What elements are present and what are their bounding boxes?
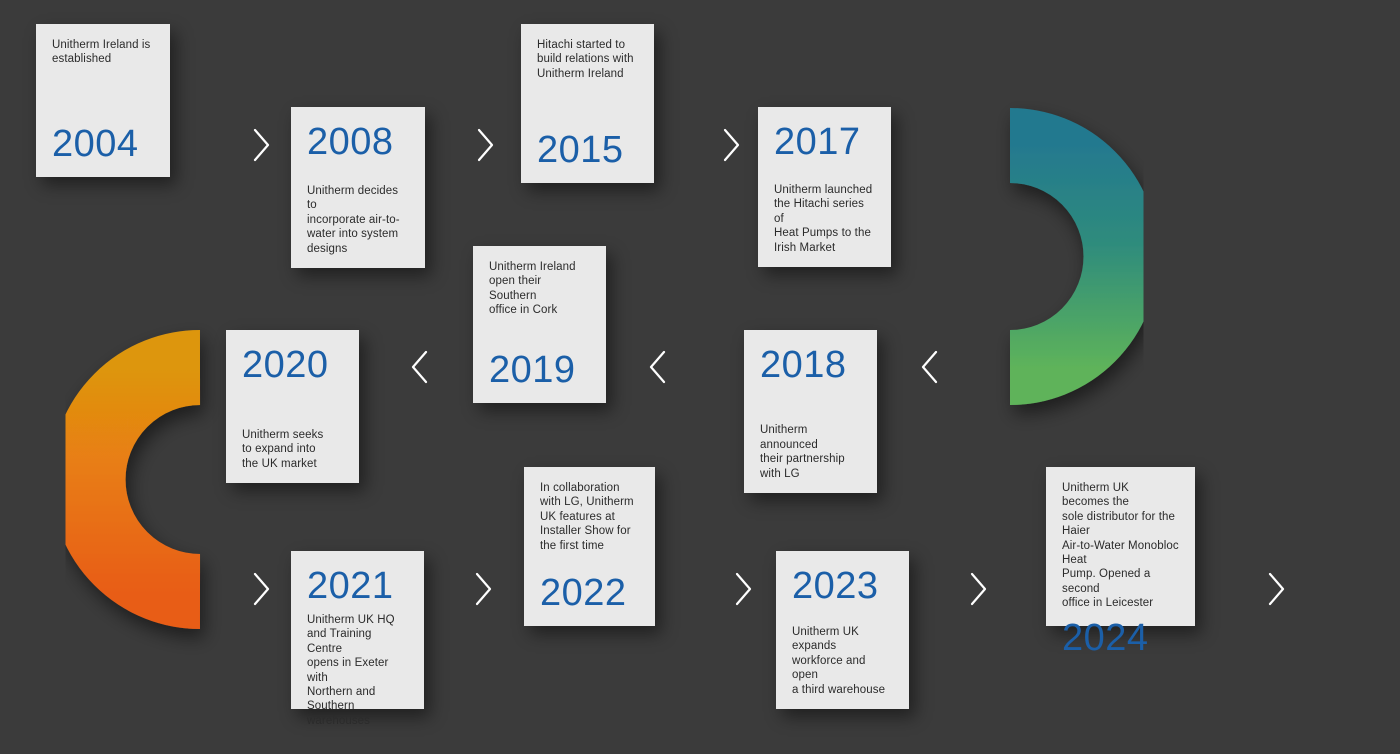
milestone-2021-card[interactable]: 2021Unitherm UK HQ and Training Centre o… <box>291 551 424 709</box>
milestone-2017-card[interactable]: 2017Unitherm launched the Hitachi series… <box>758 107 891 267</box>
milestone-2008-card[interactable]: 2008Unitherm decides to incorporate air-… <box>291 107 425 268</box>
milestone-2022-year: 2022 <box>540 572 639 614</box>
milestone-2024-card[interactable]: Unitherm UK becomes the sole distributor… <box>1046 467 1195 626</box>
milestone-2019-description: Unitherm Ireland open their Southern off… <box>489 260 590 318</box>
milestone-2004-year: 2004 <box>52 123 154 165</box>
ribbon-left-uturn <box>88 368 200 592</box>
timeline-ribbon <box>0 0 1400 754</box>
milestone-2017-year: 2017 <box>774 121 875 163</box>
milestone-2022-card[interactable]: In collaboration with LG, Unitherm UK fe… <box>524 467 655 626</box>
timeline-canvas: Unitherm Ireland is established20042008U… <box>0 0 1400 754</box>
milestone-2008-description: Unitherm decides to incorporate air-to- … <box>307 184 409 256</box>
milestone-2015-year: 2015 <box>537 129 638 171</box>
ribbon-right-uturn <box>1010 146 1121 368</box>
milestone-2021-description: Unitherm UK HQ and Training Centre opens… <box>307 613 408 728</box>
milestone-2019-year: 2019 <box>489 349 590 391</box>
milestone-2004-card[interactable]: Unitherm Ireland is established2004 <box>36 24 170 177</box>
milestone-2018-year: 2018 <box>760 344 861 386</box>
milestone-2024-year: 2024 <box>1062 617 1179 659</box>
milestone-2017-description: Unitherm launched the Hitachi series of … <box>774 183 875 255</box>
milestone-2018-description: Unitherm announced their partnership wit… <box>760 423 861 481</box>
milestone-2024-description: Unitherm UK becomes the sole distributor… <box>1062 481 1179 611</box>
milestone-2015-description: Hitachi started to build relations with … <box>537 38 638 81</box>
milestone-2019-card[interactable]: Unitherm Ireland open their Southern off… <box>473 246 606 403</box>
milestone-2023-card[interactable]: 2023Unitherm UK expands workforce and op… <box>776 551 909 709</box>
milestone-2023-description: Unitherm UK expands workforce and open a… <box>792 625 893 697</box>
milestone-2018-card[interactable]: 2018Unitherm announced their partnership… <box>744 330 877 493</box>
milestone-2008-year: 2008 <box>307 121 409 163</box>
milestone-2021-year: 2021 <box>307 565 408 607</box>
milestone-2020-card[interactable]: 2020Unitherm seeks to expand into the UK… <box>226 330 359 483</box>
milestone-2023-year: 2023 <box>792 565 893 607</box>
milestone-2015-card[interactable]: Hitachi started to build relations with … <box>521 24 654 183</box>
milestone-2022-description: In collaboration with LG, Unitherm UK fe… <box>540 481 639 553</box>
milestone-2020-description: Unitherm seeks to expand into the UK mar… <box>242 428 343 471</box>
milestone-2004-description: Unitherm Ireland is established <box>52 38 154 67</box>
milestone-2020-year: 2020 <box>242 344 343 386</box>
